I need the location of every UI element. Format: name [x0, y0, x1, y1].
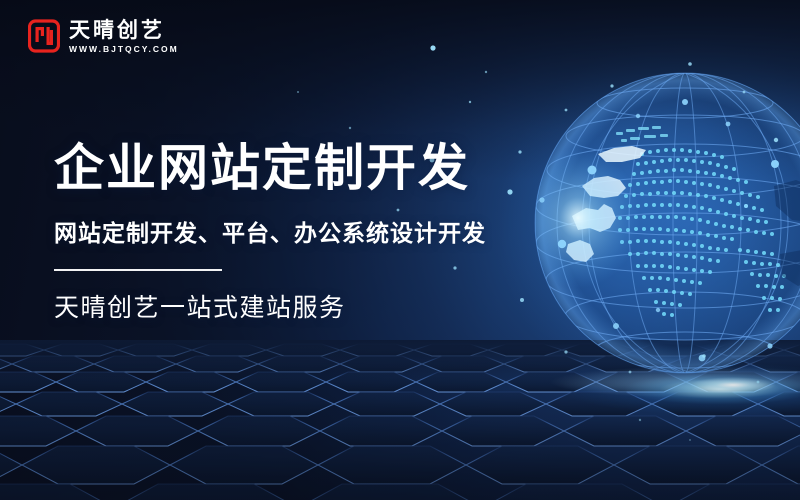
hero-tagline: 天晴创艺一站式建站服务 — [54, 292, 554, 324]
hero-banner: 天晴创艺 WWW.BJTQCY.COM 企业网站定制开发 网站定制开发、平台、办… — [0, 0, 800, 500]
logo-website-url: WWW.BJTQCY.COM — [69, 44, 179, 55]
background-bottom-vignette — [0, 350, 800, 500]
hero-copy-block: 企业网站定制开发 网站定制开发、平台、办公系统设计开发 天晴创艺一站式建站服务 — [54, 138, 554, 324]
hero-subtitle: 网站定制开发、平台、办公系统设计开发 — [54, 218, 554, 248]
brand-logo[interactable]: 天晴创艺 WWW.BJTQCY.COM — [28, 18, 179, 55]
logo-company-name: 天晴创艺 — [69, 19, 179, 42]
page-title: 企业网站定制开发 — [54, 138, 554, 198]
logo-mark-icon — [28, 18, 60, 54]
digital-globe — [520, 58, 800, 388]
copy-divider — [54, 269, 222, 271]
